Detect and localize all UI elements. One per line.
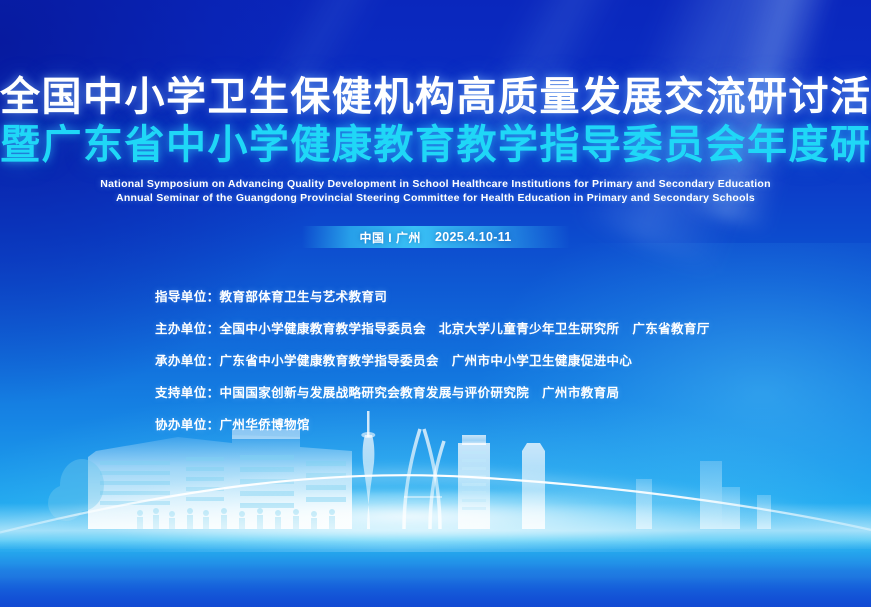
- poster-title-block: 全国中小学卫生保健机构高质量发展交流研讨活动 暨广东省中小学健康教育教学指导委员…: [0, 74, 871, 205]
- page-title-line1: 全国中小学卫生保健机构高质量发展交流研讨活动: [0, 74, 871, 120]
- organizer-label: 承办单位：: [155, 350, 220, 369]
- date-text: 2025.4.10-11: [435, 230, 512, 244]
- list-item: 承办单位： 广东省中小学健康教育教学指导委员会 广州市中小学卫生健康促进中心: [0, 350, 871, 369]
- organizer-value: 教育部体育卫生与艺术教育司: [220, 286, 388, 305]
- list-item: 指导单位： 教育部体育卫生与艺术教育司: [0, 286, 871, 305]
- background-bottom-shade: [0, 540, 871, 607]
- organizer-value: 广州华侨博物馆: [220, 414, 310, 433]
- organizer-label: 指导单位：: [155, 286, 220, 305]
- organizer-label: 协办单位：: [155, 414, 220, 433]
- list-item: 主办单位： 全国中小学健康教育教学指导委员会 北京大学儿童青少年卫生研究所 广东…: [0, 318, 871, 337]
- organizer-label: 支持单位：: [155, 382, 220, 401]
- list-item: 协办单位： 广州华侨博物馆: [0, 414, 871, 433]
- organizer-list: 指导单位： 教育部体育卫生与艺术教育司 主办单位： 全国中小学健康教育教学指导委…: [0, 286, 871, 446]
- page-title-line2: 暨广东省中小学健康教育教学指导委员会年度研讨活动: [0, 122, 871, 168]
- organizer-value: 全国中小学健康教育教学指导委员会 北京大学儿童青少年卫生研究所 广东省教育厅: [220, 318, 710, 337]
- conference-poster: 全国中小学卫生保健机构高质量发展交流研讨活动 暨广东省中小学健康教育教学指导委员…: [0, 0, 871, 607]
- location-text: 中国 I 广州: [359, 229, 421, 246]
- page-subtitle-en-line1: National Symposium on Advancing Quality …: [0, 177, 871, 191]
- organizer-label: 主办单位：: [155, 318, 220, 337]
- organizer-value: 广东省中小学健康教育教学指导委员会 广州市中小学卫生健康促进中心: [220, 350, 633, 369]
- date-location-bar-wrap: 中国 I 广州 2025.4.10-11: [0, 226, 871, 248]
- organizer-value: 中国国家创新与发展战略研究会教育发展与评价研究院 广州市教育局: [220, 382, 620, 401]
- date-location-bar: 中国 I 广州 2025.4.10-11: [302, 226, 570, 248]
- list-item: 支持单位： 中国国家创新与发展战略研究会教育发展与评价研究院 广州市教育局: [0, 382, 871, 401]
- page-subtitle-en-line2: Annual Seminar of the Guangdong Provinci…: [0, 191, 871, 205]
